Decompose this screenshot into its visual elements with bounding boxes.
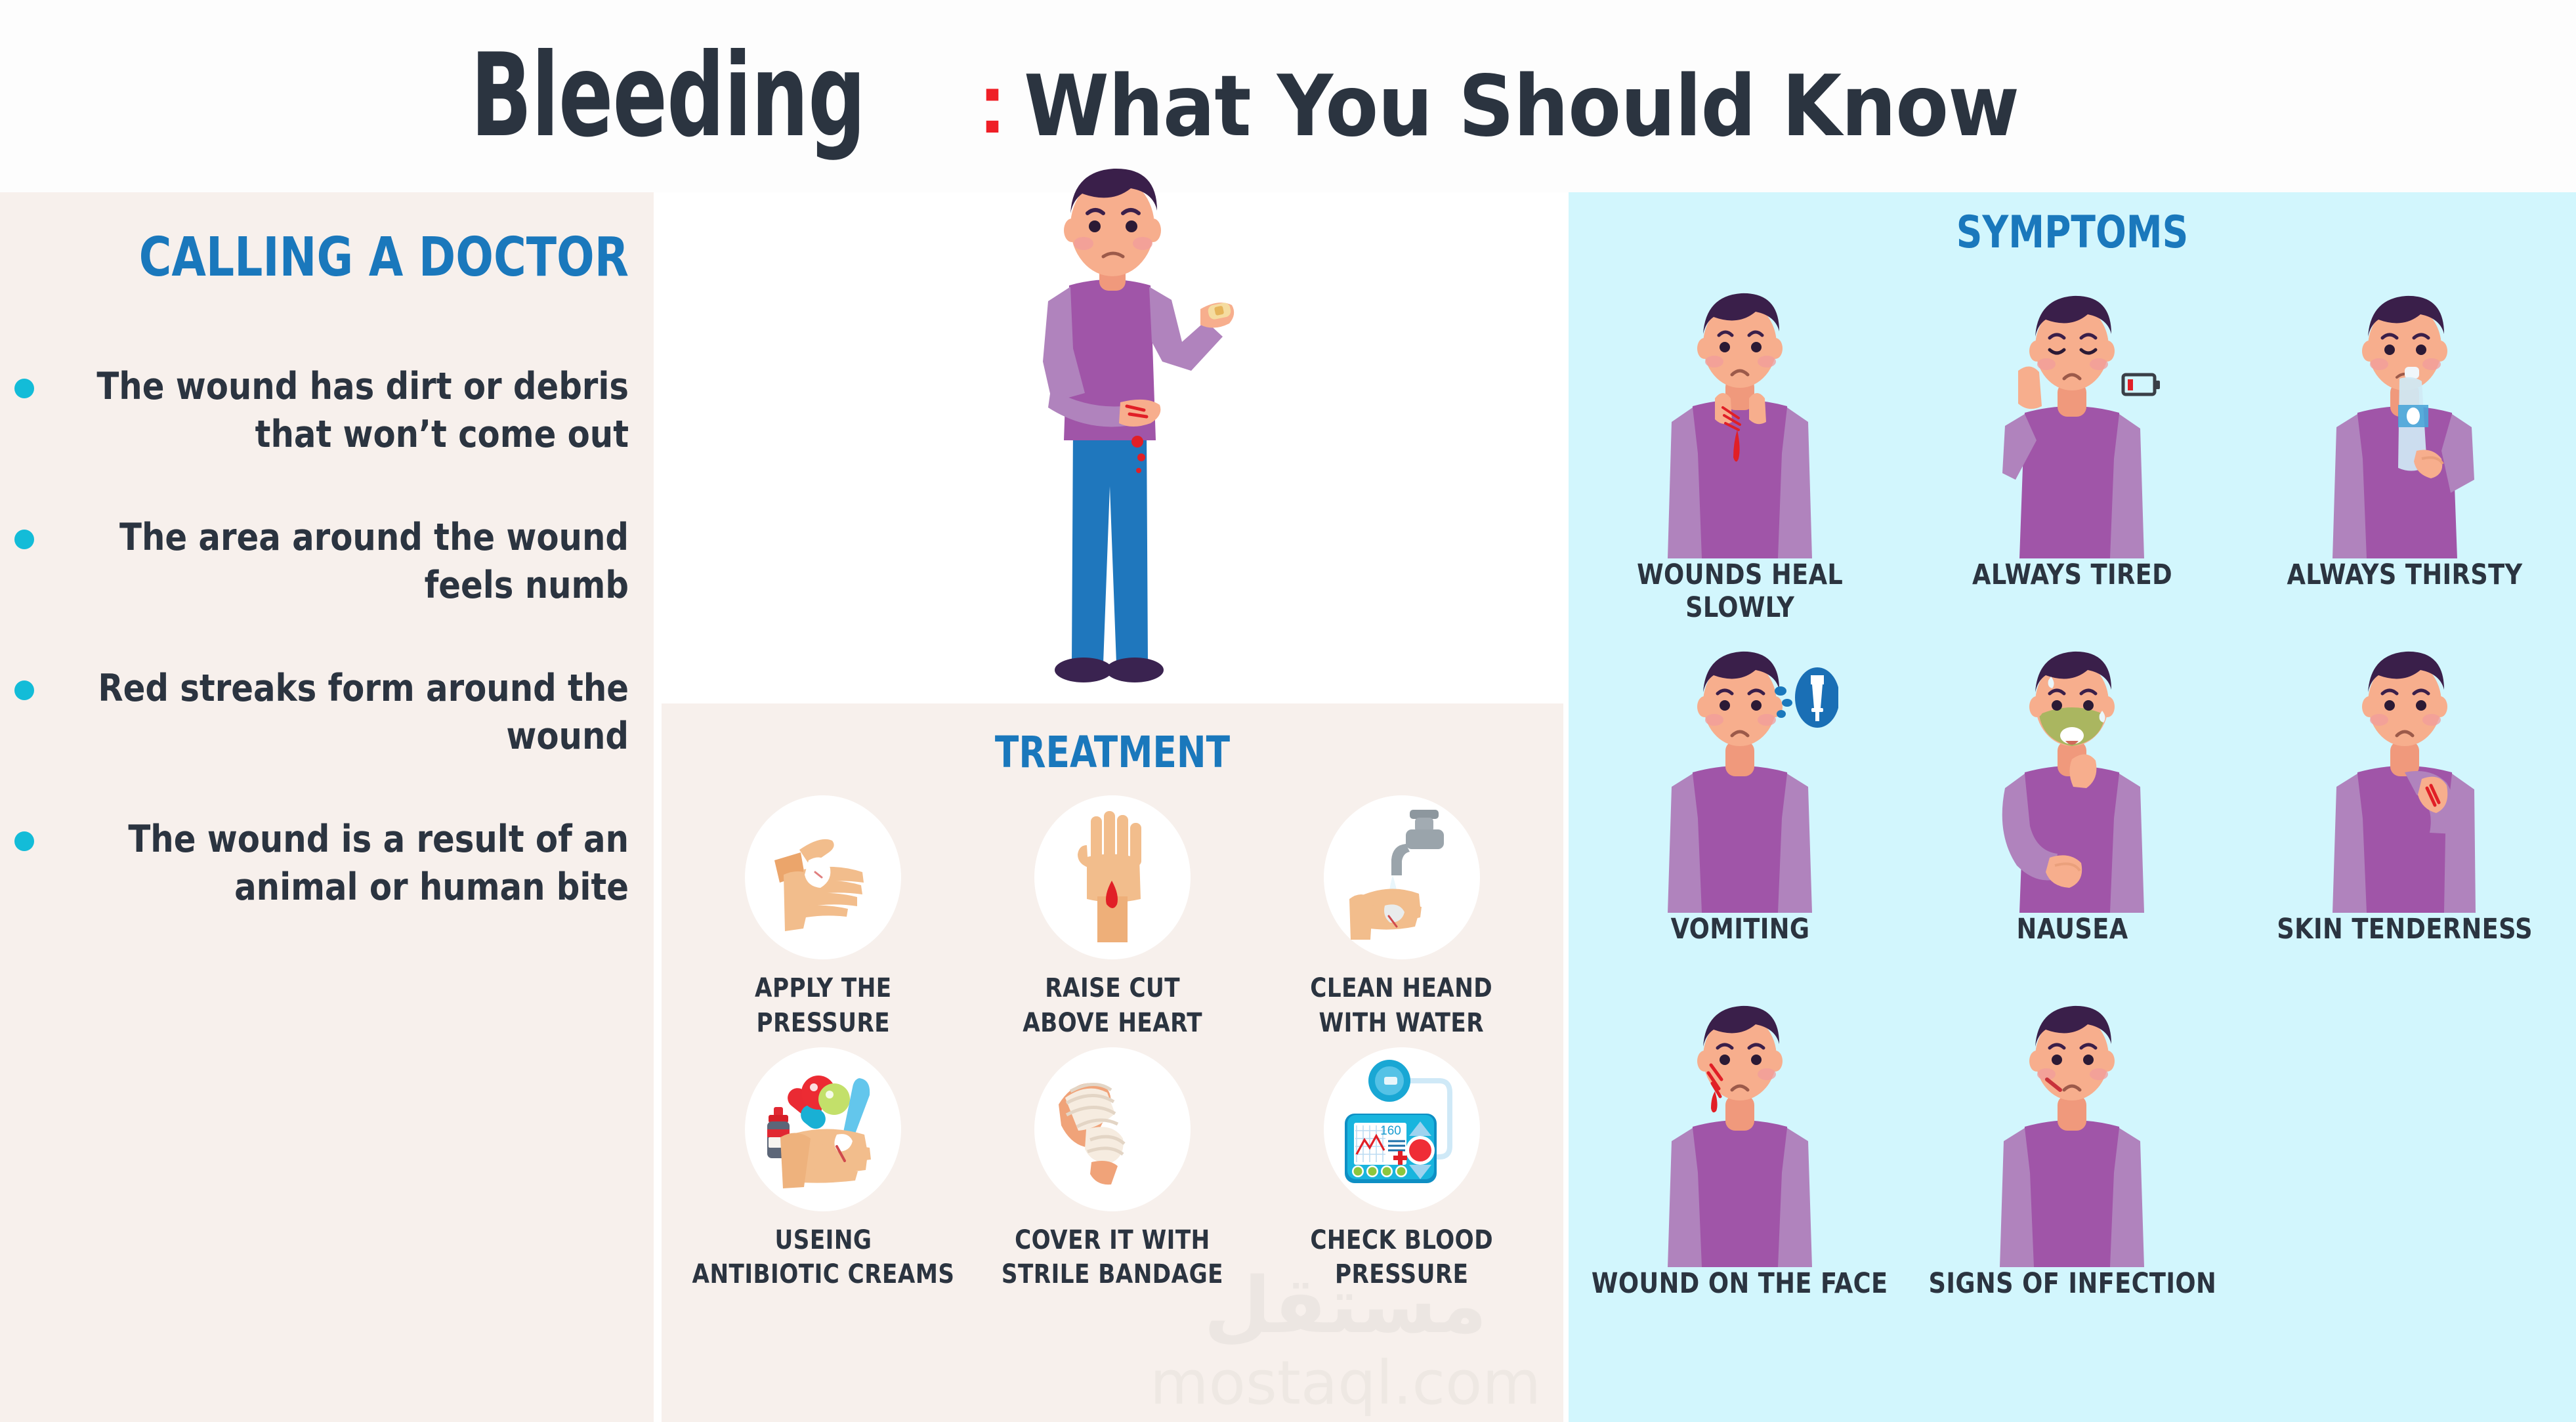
list-item: The area around the wound feels numb (0, 514, 654, 610)
symptom-item-label: ALWAYS THIRSTY (2287, 558, 2522, 591)
treatment-icon-frame (1034, 795, 1191, 959)
treatment-icon-frame (1034, 1047, 1191, 1211)
symptom-item: ALWAYS THIRSTY (2239, 270, 2571, 624)
list-item-label: Red streaks form around the wound (52, 665, 629, 761)
symptom-item: WOUND ON THE FACE (1574, 978, 1906, 1333)
bandaged-hand-icon (1047, 1058, 1178, 1200)
list-item-label: The wound is a result of an animal or hu… (52, 816, 629, 911)
treatment-item-label: RAISE CUTABOVE HEART (1023, 971, 1202, 1041)
treatment-item-label: USEINGANTIBIOTIC CREAMS (692, 1223, 954, 1293)
treatment-item: RAISE CUTABOVE HEART (968, 795, 1257, 1041)
hero-bleeding-man-icon (975, 145, 1250, 709)
title-line: Bleeding : What You Should Know (471, 30, 2105, 163)
treatment-icon-frame: 160 (1324, 1047, 1480, 1211)
infographic-canvas: Bleeding : What You Should Know CALLING … (0, 0, 2576, 1422)
calling-a-doctor-heading: CALLING A DOCTOR (51, 226, 629, 289)
treatment-panel: TREATMENT APPL (662, 703, 1563, 1422)
list-item: Red streaks form around the wound (0, 665, 654, 761)
page-title: Bleeding : What You Should Know (0, 0, 2576, 192)
symptom-item: ALWAYS TIRED (1906, 270, 2238, 624)
treatment-item: APPLY THE PRESSURE (679, 795, 968, 1041)
symptom-art (1641, 624, 1838, 913)
symptom-art (1974, 270, 2170, 558)
bullet-dot-icon (14, 680, 34, 700)
symptom-item-label: ALWAYS TIRED (1972, 558, 2172, 591)
symptom-item: SIGNS OF INFECTION (1906, 978, 2238, 1333)
raised-hand-with-blood-drop-icon (1057, 807, 1168, 948)
symptom-item: WOUNDS HEAL SLOWLY (1574, 270, 1906, 624)
treatment-item: 160 (1257, 1047, 1546, 1293)
treatment-item-label: CHECK BLOODPRESSURE (1310, 1223, 1493, 1293)
calling-a-doctor-panel: CALLING A DOCTOR The wound has dirt or d… (0, 192, 654, 1422)
nauseous-green-face-man-icon (1974, 637, 2170, 913)
symptom-art (2306, 624, 2503, 913)
symptom-item: NAUSEA (1906, 624, 2238, 978)
hands-applying-pressure-icon (757, 812, 889, 943)
list-item-label: The wound has dirt or debris that won’t … (52, 363, 629, 459)
symptom-item-label: WOUND ON THE FACE (1592, 1267, 1888, 1300)
hero-illustration-zone (662, 192, 1563, 703)
treatment-icon-frame (1324, 795, 1480, 959)
symptom-item: SKIN TENDERNESS (2239, 624, 2571, 978)
title-colon: : (978, 53, 1007, 152)
title-main-word: Bleeding (471, 30, 865, 163)
symptom-item-label: WOUNDS HEAL SLOWLY (1582, 558, 1898, 624)
symptom-item: VOMITING (1574, 624, 1906, 978)
symptoms-heading: SYMPTOMS (1619, 207, 2526, 259)
watermark-latin: mostaql.com (1116, 1348, 1575, 1418)
list-item: The wound has dirt or debris that won’t … (0, 363, 654, 459)
symptoms-grid: WOUNDS HEAL SLOWLY (1574, 270, 2571, 1333)
calling-a-doctor-list: The wound has dirt or debris that won’t … (0, 363, 654, 967)
list-item-label: The area around the wound feels numb (52, 514, 629, 610)
bullet-dot-icon (14, 831, 34, 851)
symptom-art (1641, 978, 1838, 1267)
treatment-icon-frame (745, 795, 901, 959)
symptom-item-label: NAUSEA (2016, 913, 2128, 946)
faucet-washing-hand-icon (1336, 807, 1467, 948)
symptom-item-label: SIGNS OF INFECTION (1928, 1267, 2216, 1300)
treatment-item: COVER IT WITHSTRILE BANDAGE (968, 1047, 1257, 1293)
man-touching-bleeding-neck-icon (1641, 283, 1838, 558)
list-item: The wound is a result of an animal or hu… (0, 816, 654, 911)
monitor-reading: 160 (1380, 1124, 1401, 1138)
symptom-art (1641, 270, 1838, 558)
tired-man-with-low-battery-icon (1974, 283, 2170, 558)
symptom-art (1974, 978, 2170, 1267)
medicine-cream-hand-icon (754, 1064, 892, 1195)
man-with-facial-wound-icon (1641, 992, 1838, 1267)
man-with-infection-sign-icon (1974, 992, 2170, 1267)
symptoms-panel: SYMPTOMS (1569, 192, 2576, 1422)
treatment-icon-frame (745, 1047, 901, 1211)
treatment-item: CLEAN HEANDWITH WATER (1257, 795, 1546, 1041)
bullet-dot-icon (14, 379, 34, 398)
treatment-item-label: CLEAN HEANDWITH WATER (1311, 971, 1493, 1041)
treatment-grid: APPLY THE PRESSURE RAISE C (679, 795, 1546, 1292)
man-drinking-water-bottle-icon (2306, 283, 2503, 558)
symptom-item-label: SKIN TENDERNESS (2277, 913, 2533, 946)
blood-pressure-monitor-icon: 160 (1334, 1058, 1469, 1200)
symptom-item-label: VOMITING (1670, 913, 1809, 946)
man-touching-tender-arm-icon (2306, 637, 2503, 913)
treatment-item: USEINGANTIBIOTIC CREAMS (679, 1047, 968, 1293)
title-subtitle: What You Should Know (1024, 58, 2019, 156)
man-vomiting-toilet-sign-icon (1641, 637, 1838, 913)
symptom-art (2306, 270, 2503, 558)
symptom-art (1974, 624, 2170, 913)
treatment-item-label: APPLY THE PRESSURE (686, 971, 961, 1041)
treatment-item-label: COVER IT WITHSTRILE BANDAGE (1002, 1223, 1223, 1293)
bullet-dot-icon (14, 530, 34, 549)
treatment-heading: TREATMENT (707, 727, 1519, 778)
